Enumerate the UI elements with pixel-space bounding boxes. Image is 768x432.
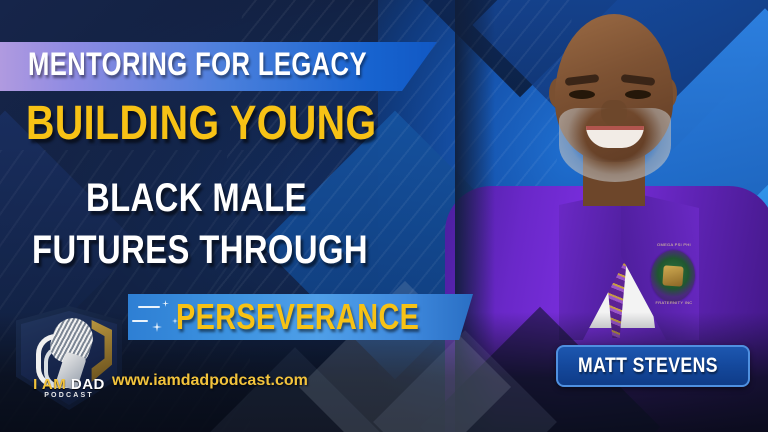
headline-line-1: BUILDING YOUNG [26,96,377,151]
youtube-thumbnail: OMEGA PSI PHI FRATERNITY INC MENTORING F… [0,0,768,432]
website-url: www.iamdadpodcast.com [112,372,308,390]
eyebrow-text: MENTORING FOR LEGACY [28,46,367,83]
fraternity-crest-top-label: OMEGA PSI PHI [647,242,701,247]
fraternity-crest-bottom-label: FRATERNITY INC [647,300,701,305]
logo-subtitle: PODCAST [16,392,122,399]
headline-line-4: PERSEVERANCE [176,296,419,338]
headline-line-2: BLACK MALE [86,176,307,221]
logo-wordmark-part1: I AM [33,376,71,393]
guest-eye-right [625,90,651,99]
perseverance-band: PERSEVERANCE [128,294,473,340]
eyebrow-band: MENTORING FOR LEGACY [0,42,437,91]
guest-name: MATT STEVENS [578,354,718,378]
guest-eye-left [569,90,595,99]
logo-wordmark: I AM DAD [16,376,122,393]
podcast-logo: I AM DAD PODCAST [16,306,122,410]
guest-nameplate: MATT STEVENS [556,345,750,387]
logo-wordmark-part2: DAD [71,376,105,393]
headline-line-3: FUTURES THROUGH [32,228,368,273]
